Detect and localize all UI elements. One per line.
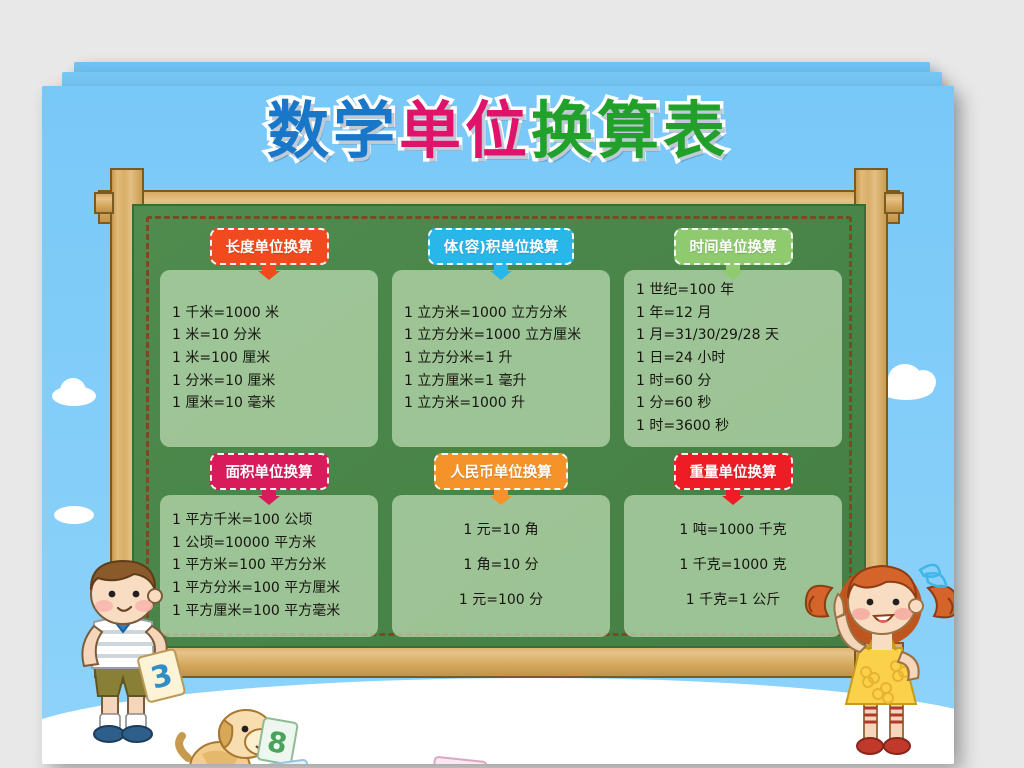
page-title: 数学单位换算表 [42,100,954,162]
row-item: 1 日=24 小时 [632,347,834,370]
panel-time: 时间单位换算 1 世纪=100 年 1 年=12 月 1 月=31/30/29/… [624,228,842,447]
row-item: 1 月=31/30/29/28 天 [632,324,834,347]
frame-tab-right [884,192,904,214]
badge-time[interactable]: 时间单位换算 [674,228,793,265]
badge-weight[interactable]: 重量单位换算 [674,453,793,490]
chalkboard-surface: 长度单位换算 1 千米=1000 米 1 米=10 分米 1 米=100 厘米 … [132,204,866,648]
card-length: 1 千米=1000 米 1 米=10 分米 1 米=100 厘米 1 分米=10… [160,270,378,447]
card-currency: 1 元=10 角 1 角=10 分 1 元=100 分 [392,495,610,637]
chalkboard-frame: 长度单位换算 1 千米=1000 米 1 米=10 分米 1 米=100 厘米 … [90,168,908,684]
row-item: 1 世纪=100 年 [632,279,834,302]
cloud-icon [910,370,936,394]
badge-volume[interactable]: 体(容)积单位换算 [428,228,575,265]
row-item: 1 立方分米=1000 立方厘米 [400,324,602,347]
row-item: 1 米=100 厘米 [168,347,370,370]
row-item: 1 元=100 分 [400,583,602,618]
row-item: 1 吨=1000 千克 [632,513,834,548]
row-item: 1 分=60 秒 [632,392,834,415]
row-item: 1 时=60 分 [632,370,834,393]
title-part-2: 单位 [399,100,531,162]
row-item: 1 立方米=1000 立方分米 [400,302,602,325]
card-time: 1 世纪=100 年 1 年=12 月 1 月=31/30/29/28 天 1 … [624,270,842,447]
row-item: 1 立方分米=1 升 [400,347,602,370]
frame-tab-left [94,192,114,214]
poster-canvas: 数学单位换算表 长度单位换算 [0,0,1024,768]
panel-currency: 人民币单位换算 1 元=10 角 1 角=10 分 1 元=100 分 [392,453,610,637]
badge-length[interactable]: 长度单位换算 [210,228,329,265]
row-item: 1 立方米=1000 升 [400,392,602,415]
row-item: 1 平方千米=100 公顷 [168,509,370,532]
row-item: 1 厘米=10 毫米 [168,392,370,415]
cloud-icon [54,506,94,524]
title-part-3: 换算表 [531,100,729,162]
panel-length: 长度单位换算 1 千米=1000 米 1 米=10 分米 1 米=100 厘米 … [160,228,378,447]
row-item: 1 米=10 分米 [168,324,370,347]
row-item: 1 角=10 分 [400,548,602,583]
cloud-icon [60,378,86,404]
row-item: 1 立方厘米=1 毫升 [400,370,602,393]
row-item: 1 时=3600 秒 [632,415,834,438]
row-item: 1 元=10 角 [400,513,602,548]
row-item: 1 分米=10 厘米 [168,370,370,393]
girl-character [798,554,954,764]
badge-area[interactable]: 面积单位换算 [210,453,329,490]
conversion-grid: 长度单位换算 1 千米=1000 米 1 米=10 分米 1 米=100 厘米 … [160,228,842,630]
floor-number-cards: 2 6 5 [260,746,550,764]
card-volume: 1 立方米=1000 立方分米 1 立方分米=1000 立方厘米 1 立方分米=… [392,270,610,447]
row-item: 1 千米=1000 米 [168,302,370,325]
row-item: 1 公顷=10000 平方米 [168,532,370,555]
badge-currency[interactable]: 人民币单位换算 [434,453,568,490]
row-item: 1 年=12 月 [632,302,834,325]
title-part-1: 数学 [267,100,399,162]
panel-volume: 体(容)积单位换算 1 立方米=1000 立方分米 1 立方分米=1000 立方… [392,228,610,447]
poster-sheet: 数学单位换算表 长度单位换算 [42,86,954,764]
